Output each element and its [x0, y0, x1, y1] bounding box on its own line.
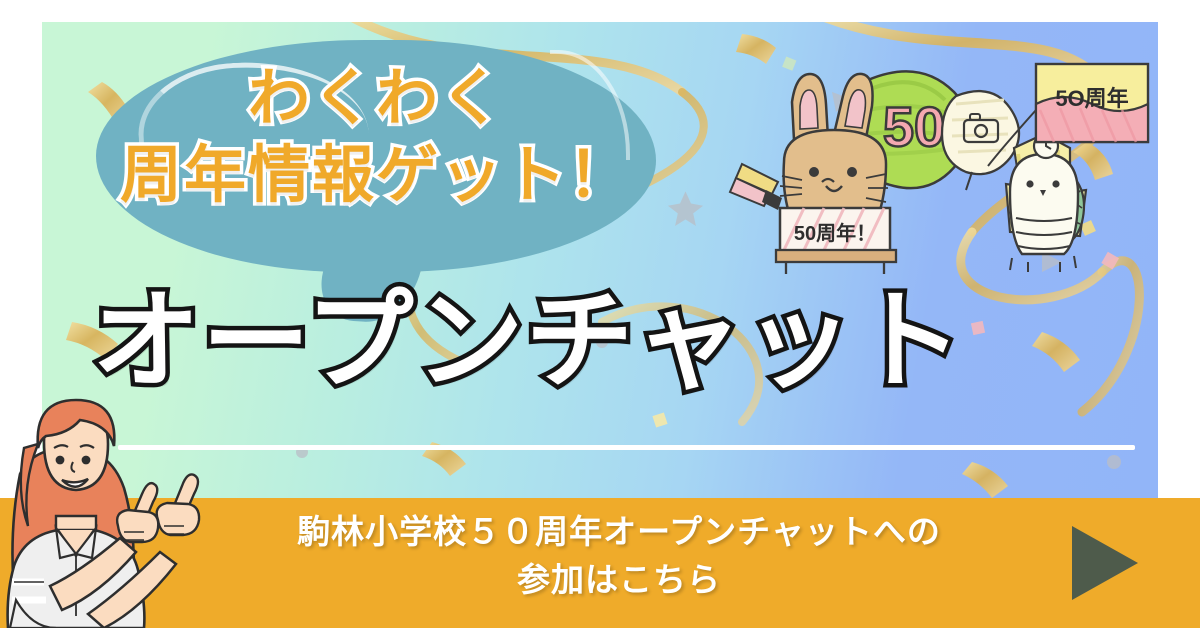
rabbit-character: 50周年！	[730, 74, 896, 274]
bubble-line-1: わくわく	[96, 66, 656, 133]
svg-text:50: 50	[883, 95, 945, 158]
speech-bubble: わくわく 周年情報ゲット！	[96, 40, 656, 320]
speech-bubble-text: わくわく 周年情報ゲット！	[96, 66, 656, 210]
cta-line-2: 参加はこちら	[196, 556, 1042, 604]
page-title: オープンチャット	[92, 284, 1158, 397]
cta-text: 駒林小学校５０周年オープンチャットへの 参加はこちら	[196, 508, 1042, 604]
rabbit-sign-text: 50周年！	[794, 221, 876, 245]
title-underline-rule	[118, 445, 1135, 450]
pointing-woman-illustration	[0, 386, 242, 628]
flag-text: 5O周年	[1055, 86, 1128, 111]
bubble-line-2: 周年情報ゲット！	[96, 143, 656, 210]
bird-character	[1006, 134, 1086, 272]
play-triangle-icon[interactable]	[1072, 526, 1138, 600]
cta-line-1: 駒林小学校５０周年オープンチャットへの	[196, 508, 1042, 556]
celebration-illustration: 50	[718, 50, 1158, 310]
banner-canvas: 50	[0, 0, 1200, 628]
balloon-camera	[942, 91, 1019, 190]
